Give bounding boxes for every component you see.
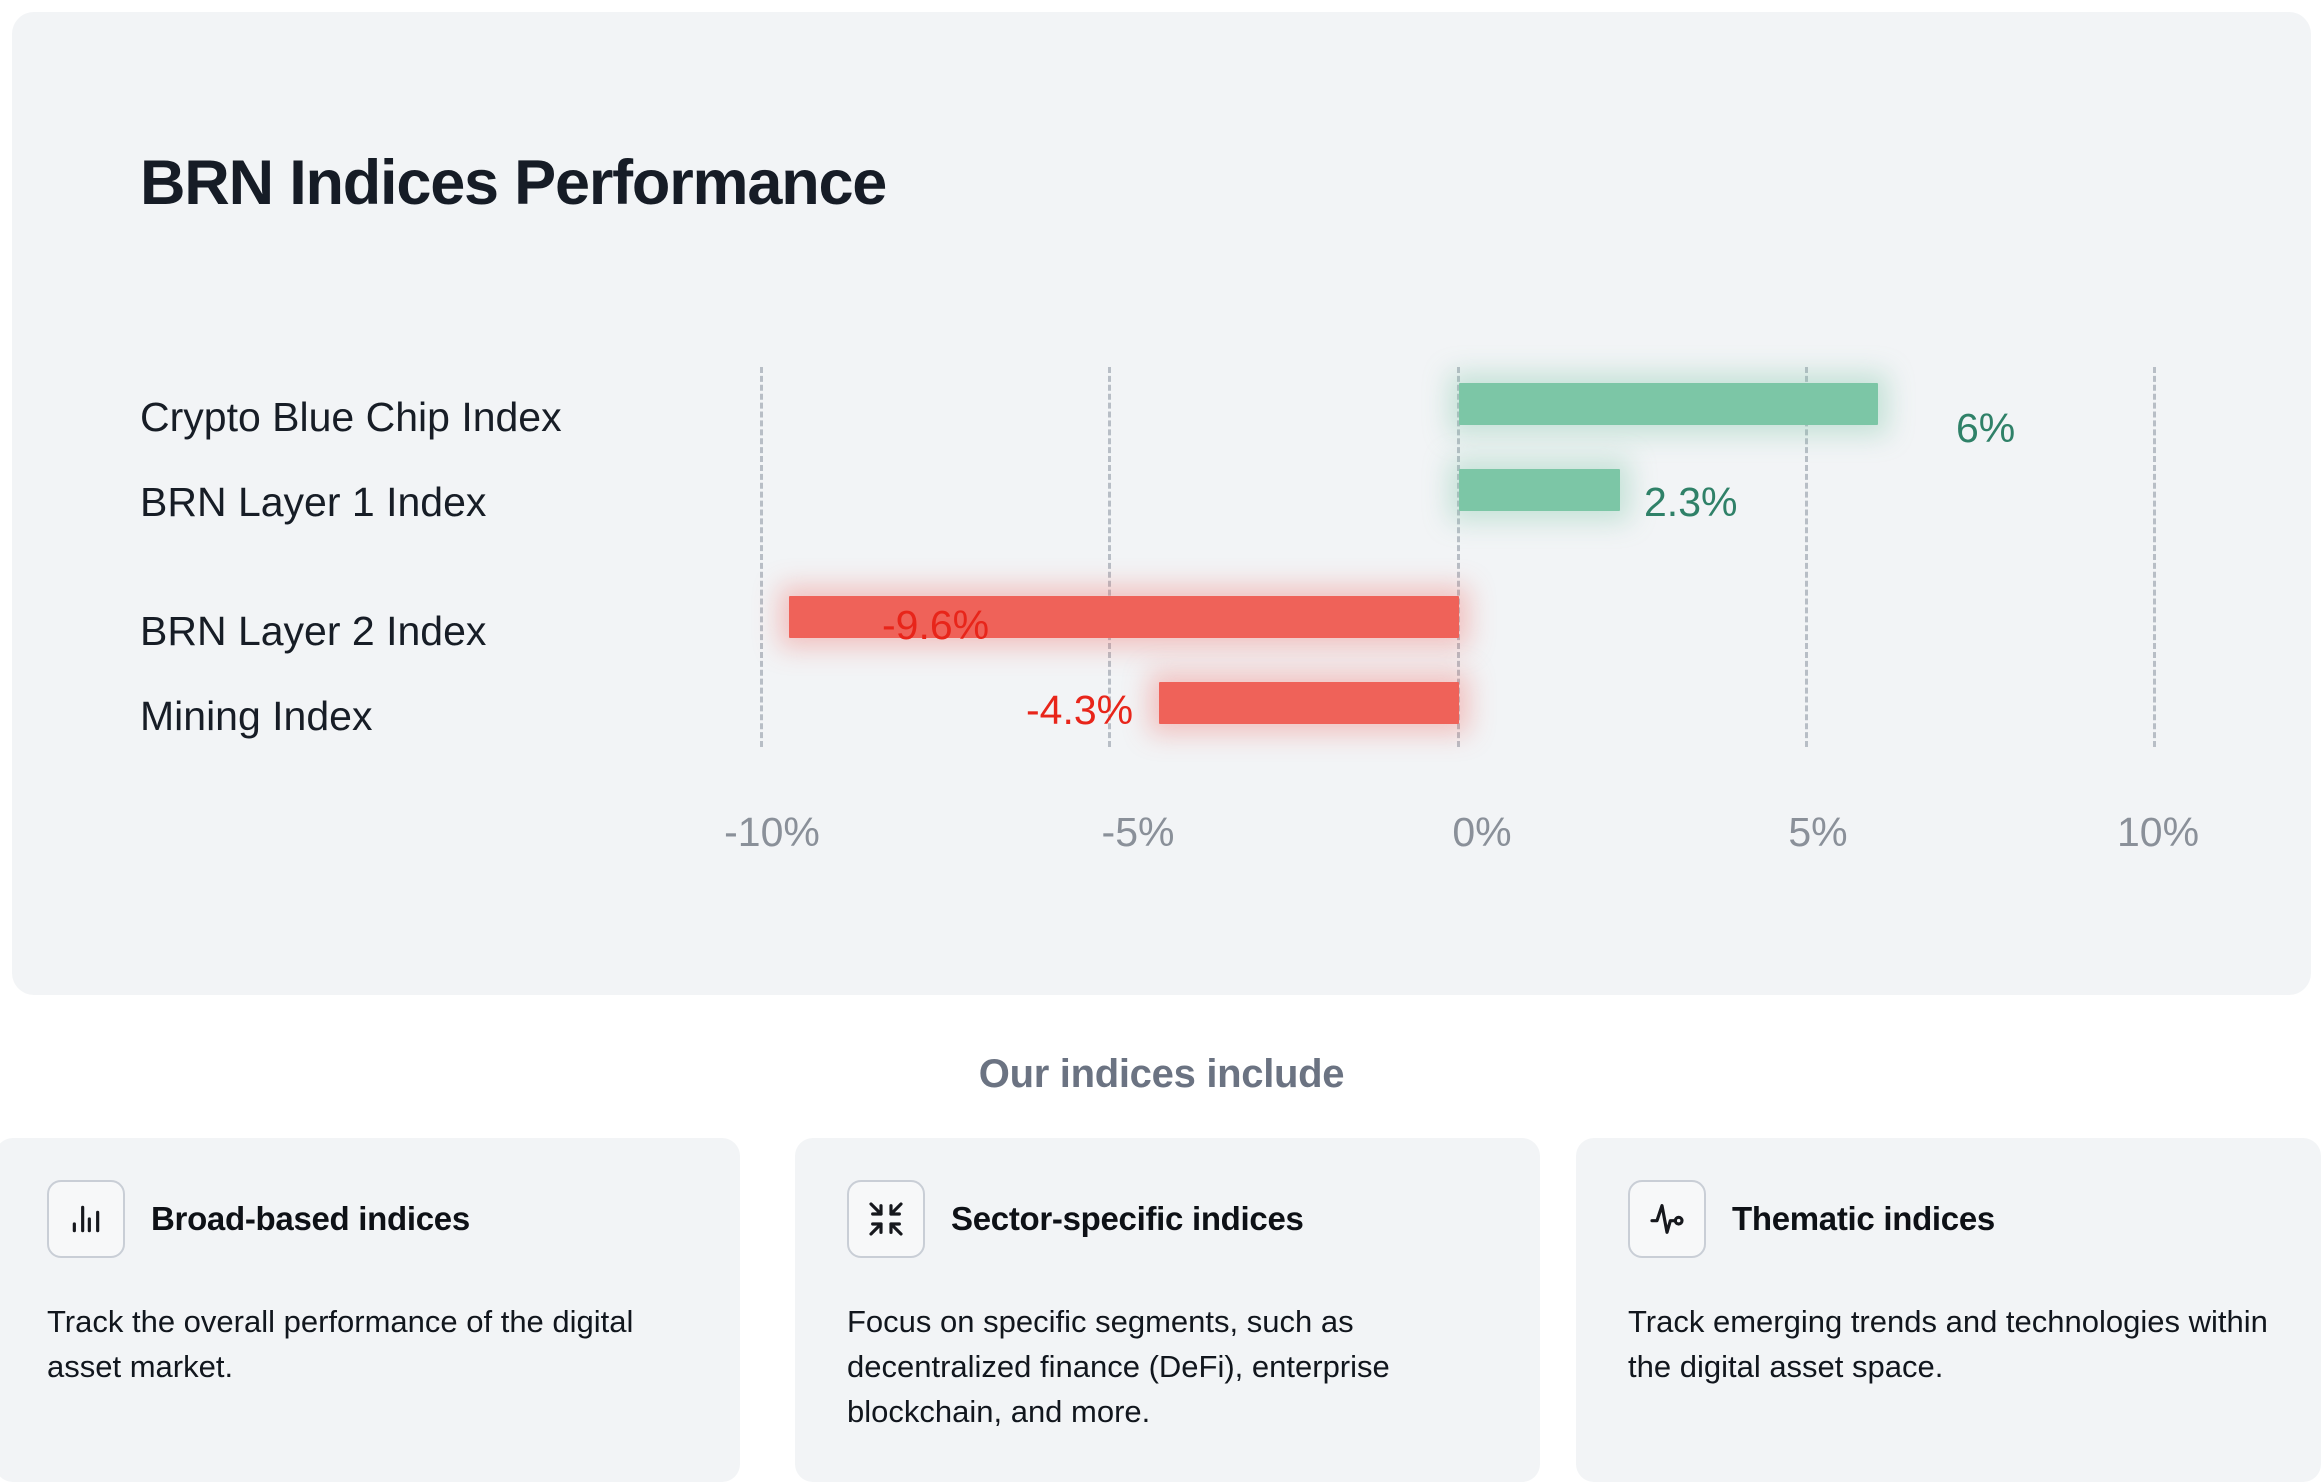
gridline-plus10 — [2153, 367, 2156, 747]
bar-value-label-2: -9.6% — [882, 605, 989, 646]
bar-brn-layer-1-index — [1459, 469, 1620, 511]
bar-chart: Crypto Blue Chip Index BRN Layer 1 Index… — [12, 12, 2311, 995]
x-tick-label-plus5: 5% — [1788, 812, 1847, 853]
card-header: Broad-based indices — [47, 1180, 470, 1258]
bar-category-label-2: BRN Layer 2 Index — [140, 611, 486, 652]
chart-panel: BRN Indices Performance Crypto Blue Chip… — [12, 12, 2311, 995]
card-body: Track emerging trends and technologies w… — [1628, 1300, 2278, 1390]
card-title: Broad-based indices — [151, 1200, 470, 1238]
bar-category-label-0: Crypto Blue Chip Index — [140, 397, 562, 438]
x-tick-label-minus10: -10% — [724, 812, 820, 853]
x-tick-label-plus10: 10% — [2117, 812, 2199, 853]
card-title: Sector-specific indices — [951, 1200, 1304, 1238]
card-body: Track the overall performance of the dig… — [47, 1300, 697, 1390]
bar-crypto-blue-chip-index — [1459, 383, 1878, 425]
bar-mining-index — [1159, 682, 1459, 724]
activity-pulse-icon — [1628, 1180, 1706, 1258]
bar-chart-icon — [47, 1180, 125, 1258]
card-title: Thematic indices — [1732, 1200, 1995, 1238]
card-header: Sector-specific indices — [847, 1180, 1304, 1258]
card-header: Thematic indices — [1628, 1180, 1995, 1258]
bar-value-label-1: 2.3% — [1644, 482, 1737, 523]
x-tick-label-minus5: -5% — [1102, 812, 1175, 853]
cards-row: Broad-based indices Track the overall pe… — [0, 1138, 2323, 1482]
gridline-minus10 — [760, 367, 763, 747]
bar-value-label-3: -4.3% — [1026, 690, 1133, 731]
x-tick-label-zero: 0% — [1452, 812, 1511, 853]
card-thematic-indices[interactable]: Thematic indices Track emerging trends a… — [1576, 1138, 2321, 1482]
page-root: BRN Indices Performance Crypto Blue Chip… — [0, 0, 2323, 1482]
compress-arrows-icon — [847, 1180, 925, 1258]
bar-category-label-1: BRN Layer 1 Index — [140, 482, 486, 523]
card-sector-specific-indices[interactable]: Sector-specific indices Focus on specifi… — [795, 1138, 1540, 1482]
card-body: Focus on specific segments, such as dece… — [847, 1300, 1497, 1435]
bar-category-label-3: Mining Index — [140, 696, 372, 737]
bar-value-label-0: 6% — [1956, 408, 2015, 449]
card-broad-based-indices[interactable]: Broad-based indices Track the overall pe… — [0, 1138, 740, 1482]
section-heading: Our indices include — [0, 1052, 2323, 1097]
